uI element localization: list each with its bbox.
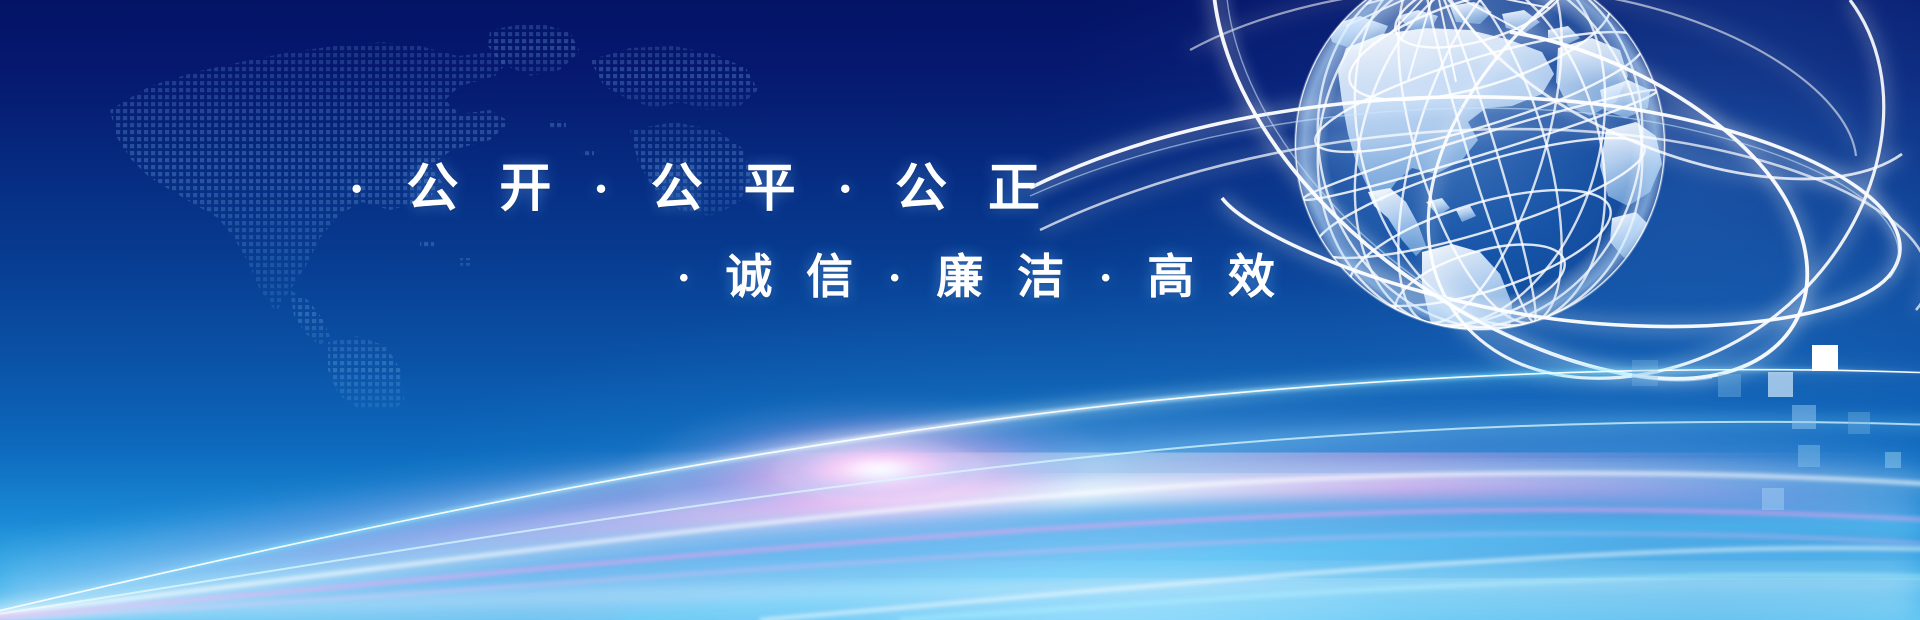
pixel-square-4 [1848, 412, 1870, 434]
slogan-block: · 公 开 · 公 平 · 公 正 · 诚 信 · 廉 洁 · 高 效 [0, 0, 1200, 340]
pixel-square-white [1812, 345, 1838, 371]
pixel-square-5 [1798, 445, 1820, 467]
pixel-square-2 [1718, 374, 1741, 397]
pixel-square-7 [1762, 488, 1784, 510]
pixel-square-8 [1632, 360, 1658, 386]
pixel-square-1 [1768, 372, 1793, 397]
slogan-line-1: · 公 开 · 公 平 · 公 正 [348, 146, 1054, 221]
slogan-line-2: · 诚 信 · 廉 洁 · 高 效 [676, 238, 1286, 307]
pixel-square-6 [1885, 452, 1901, 468]
pixel-square-3 [1792, 405, 1816, 429]
banner-root: · 公 开 · 公 平 · 公 正 · 诚 信 · 廉 洁 · 高 效 [0, 0, 1920, 620]
